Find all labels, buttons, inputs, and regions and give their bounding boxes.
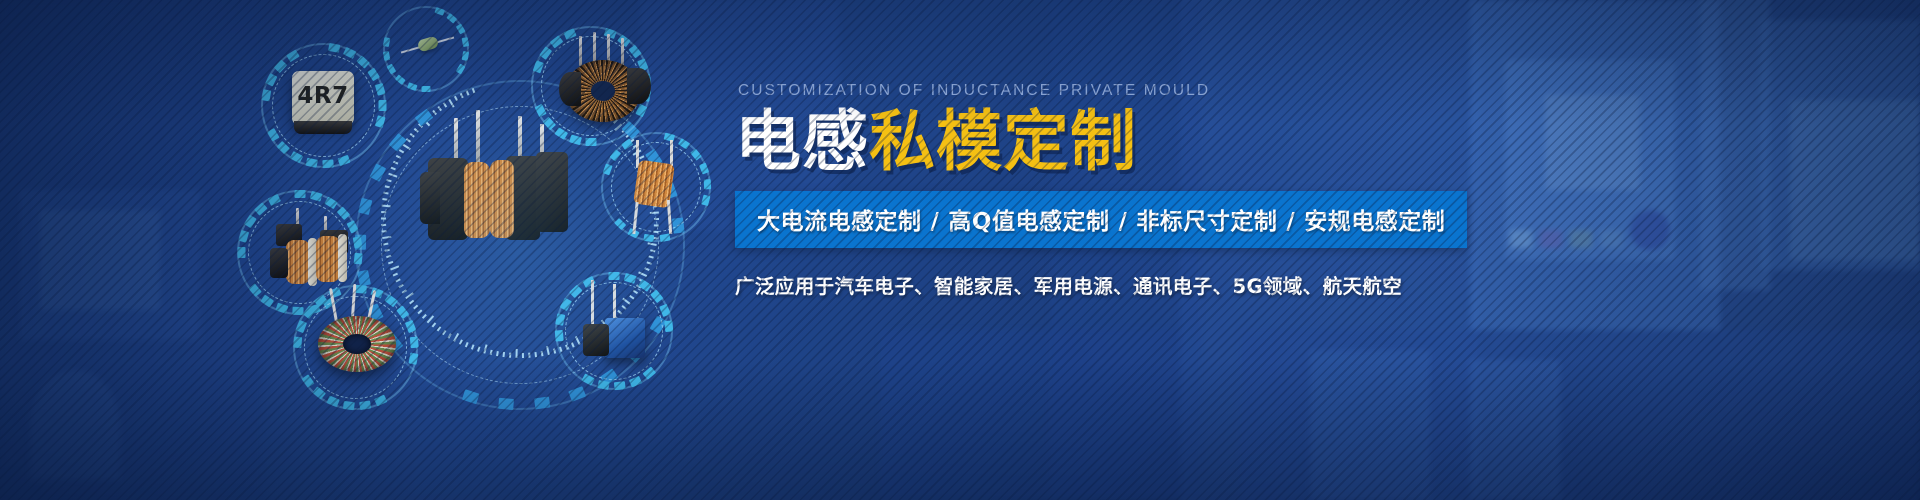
page-title: 电感私模定制 [735, 109, 1395, 175]
eyebrow-english-tagline: CUSTOMIZATION OF INDUCTANCE PRIVATE MOUL… [738, 82, 1395, 100]
feature-separator-0: / [922, 209, 949, 235]
application-description: 广泛应用于汽车电子、智能家居、军用电源、通讯电子、5G领域、航天航空 [735, 270, 1395, 299]
feature-separator-1: / [1109, 209, 1136, 235]
inductance-customization-banner: 4R7 [0, 0, 1920, 500]
feature-item-3: 安规电感定制 [1304, 209, 1445, 235]
feature-item-0: 大电流电感定制 [757, 209, 922, 235]
product-smd-power-inductor: 4R7 [292, 71, 358, 141]
product-common-mode-filter-coil [262, 208, 358, 294]
feature-item-2: 非标尺寸定制 [1136, 209, 1277, 235]
banner-copy: CUSTOMIZATION OF INDUCTANCE PRIVATE MOUL… [735, 82, 1395, 299]
product-large-ferrite-core-inductor [418, 110, 578, 260]
product-rod-core-inductor [622, 140, 694, 236]
feature-bar: 大电流电感定制/高Q值电感定制/非标尺寸定制/安规电感定制 [735, 191, 1467, 248]
product-axial-lead-inductor [392, 24, 462, 74]
headline-yellow-part: 私模定制 [869, 103, 1137, 180]
feature-separator-2: / [1277, 209, 1304, 235]
feature-item-1: 高Q值电感定制 [948, 209, 1109, 235]
smd-body: 4R7 [292, 71, 354, 125]
headline-white-part: 电感 [735, 103, 869, 180]
smd-part-label: 4R7 [292, 71, 354, 125]
product-green-toroidal-inductor [312, 288, 402, 378]
product-blue-radial-inductor [575, 280, 655, 370]
